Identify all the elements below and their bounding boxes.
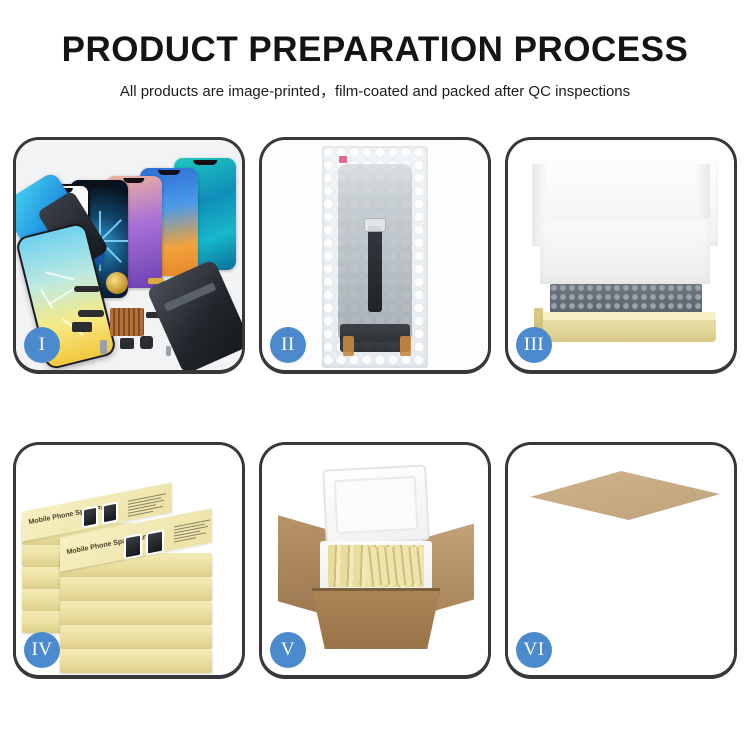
- step-panel-6[interactable]: VI: [505, 442, 737, 679]
- carton-front-face: [312, 591, 440, 649]
- bubble-wrap-layer: [550, 284, 702, 314]
- box-thumb-rear-1: [82, 505, 98, 528]
- part-screws: [166, 346, 171, 356]
- step-badge-1: I: [24, 327, 60, 363]
- part-flex-cable: [78, 310, 104, 317]
- page-header: PRODUCT PREPARATION PROCESS All products…: [0, 0, 750, 101]
- box-thumb-rear-2: [102, 501, 118, 524]
- step-panel-3[interactable]: III: [505, 137, 737, 374]
- step-badge-3: III: [516, 327, 552, 363]
- screen-connector: [364, 218, 386, 232]
- part-gold-coil: [106, 272, 128, 294]
- tape-tab-left: [343, 336, 354, 356]
- plastic-glare: [452, 140, 478, 166]
- step-panel-2[interactable]: II: [259, 137, 491, 374]
- box-thumb-front-1: [124, 533, 142, 559]
- part-screw-strip: [100, 340, 107, 354]
- box-front-2: [60, 625, 212, 649]
- foam-box-lid: [322, 464, 430, 545]
- page-title: PRODUCT PREPARATION PROCESS: [0, 32, 750, 69]
- step-panel-4[interactable]: Mobile Phone Spare Parts Mobile Phone Sp…: [13, 442, 245, 679]
- box-front-3: [60, 601, 212, 625]
- box-thumb-front-2: [146, 529, 164, 555]
- foam-sheet: [540, 218, 710, 284]
- part-speaker: [120, 338, 134, 349]
- yellow-box-rim: [534, 312, 716, 320]
- step-badge-4: IV: [24, 632, 60, 668]
- part-bracket: [72, 322, 92, 332]
- tape-tab-right: [400, 336, 411, 356]
- step-panel-5[interactable]: V: [259, 442, 491, 679]
- step-badge-5: V: [270, 632, 306, 668]
- screen-flex-cable: [368, 226, 382, 312]
- page-subtitle: All products are image-printed，film-coat…: [0, 80, 750, 101]
- step-badge-2: II: [270, 327, 306, 363]
- part-chip: [74, 286, 100, 292]
- step-badge-6: VI: [516, 632, 552, 668]
- part-camera-module: [140, 336, 153, 349]
- box-front-1: [60, 649, 212, 673]
- packed-yellow-boxes-secondary: [366, 547, 424, 585]
- step-panel-1[interactable]: I: [13, 137, 245, 374]
- qc-sticker: [339, 156, 347, 163]
- part-copper-grid: [110, 308, 144, 336]
- process-steps-grid: I II III: [0, 137, 750, 679]
- box-front-4: [60, 577, 212, 601]
